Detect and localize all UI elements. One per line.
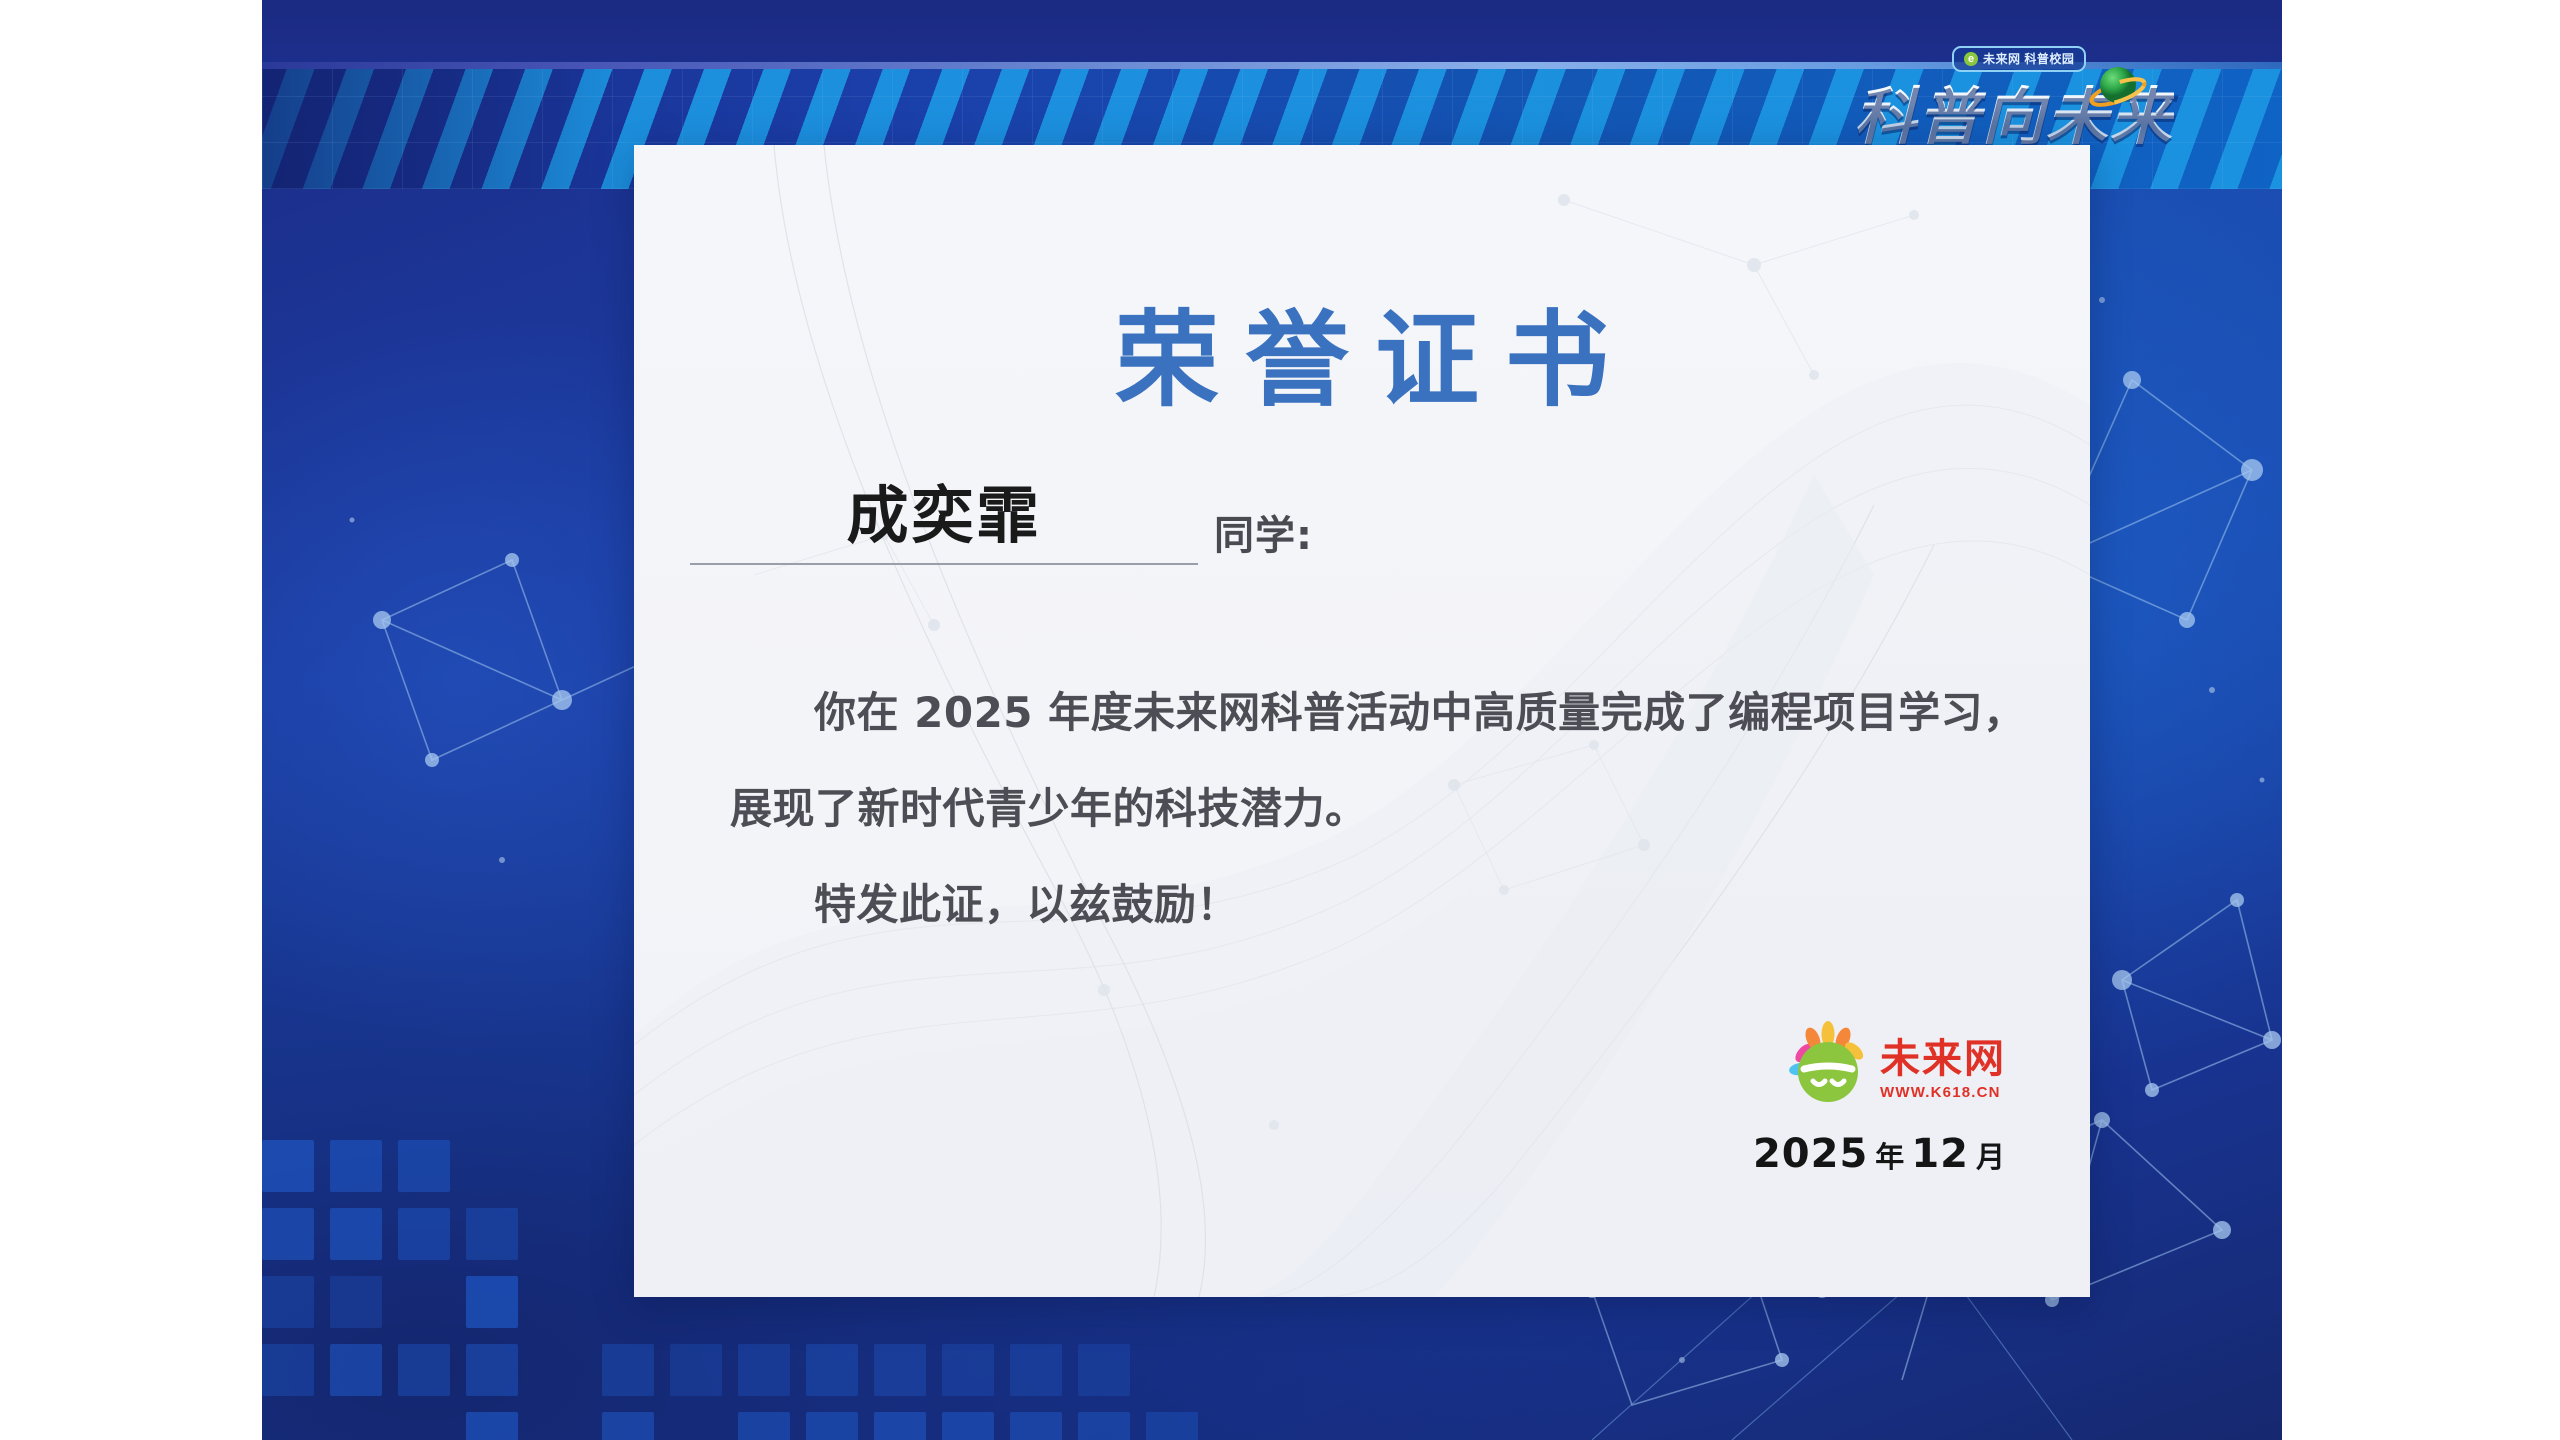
issuer-name: 未来网 xyxy=(1880,1039,2006,1079)
issue-month: 12 xyxy=(1911,1131,1969,1177)
program-logo: e 未来网 科普校园 科普向未来 xyxy=(1854,42,2154,162)
certificate-body: 你在 2025 年度未来网科普活动中高质量完成了编程项目学习， 展现了新时代青少… xyxy=(730,665,1994,953)
k618-e-icon: e xyxy=(1964,52,1978,66)
program-badge-label: 未来网 科普校园 xyxy=(1983,50,2074,67)
recipient-honorific: 同学: xyxy=(1214,503,1313,565)
issuer-logo: 未来网 WWW.K618.CN xyxy=(1780,1019,2006,1105)
body-line-1: 你在 2025 年度未来网科普活动中高质量完成了编程项目学习， xyxy=(730,665,1994,761)
certificate-title: 荣誉证书 xyxy=(634,275,2090,426)
recipient-row: 成奕霏 同学: xyxy=(690,465,1313,565)
issue-year: 2025 xyxy=(1753,1131,1868,1177)
planet-icon xyxy=(2088,58,2148,118)
issuer-url: WWW.K618.CN xyxy=(1880,1084,2006,1101)
certificate-page: e 未来网 科普校园 科普向未来 xyxy=(0,0,2560,1440)
body-line-3: 特发此证，以兹鼓励！ xyxy=(730,857,1994,953)
issuer-wordmark: 未来网 WWW.K618.CN xyxy=(1880,1039,2006,1105)
issue-year-unit: 年 xyxy=(1875,1140,1905,1174)
issue-month-unit: 月 xyxy=(1976,1140,2006,1174)
signature-block: 未来网 WWW.K618.CN 2025年12月 xyxy=(1753,1019,2012,1177)
recipient-name: 成奕霏 xyxy=(846,479,1041,552)
recipient-name-slot: 成奕霏 xyxy=(690,465,1198,565)
k618-e-face-icon xyxy=(1780,1019,1872,1105)
issue-date: 2025年12月 xyxy=(1753,1131,2012,1177)
certificate-card: 荣誉证书 成奕霏 同学: 你在 2025 年度未来网科普活动中高质量完成了编程项… xyxy=(634,145,2090,1297)
poster-background: e 未来网 科普校园 科普向未来 xyxy=(262,0,2282,1440)
body-line-2: 展现了新时代青少年的科技潜力。 xyxy=(730,761,1994,857)
